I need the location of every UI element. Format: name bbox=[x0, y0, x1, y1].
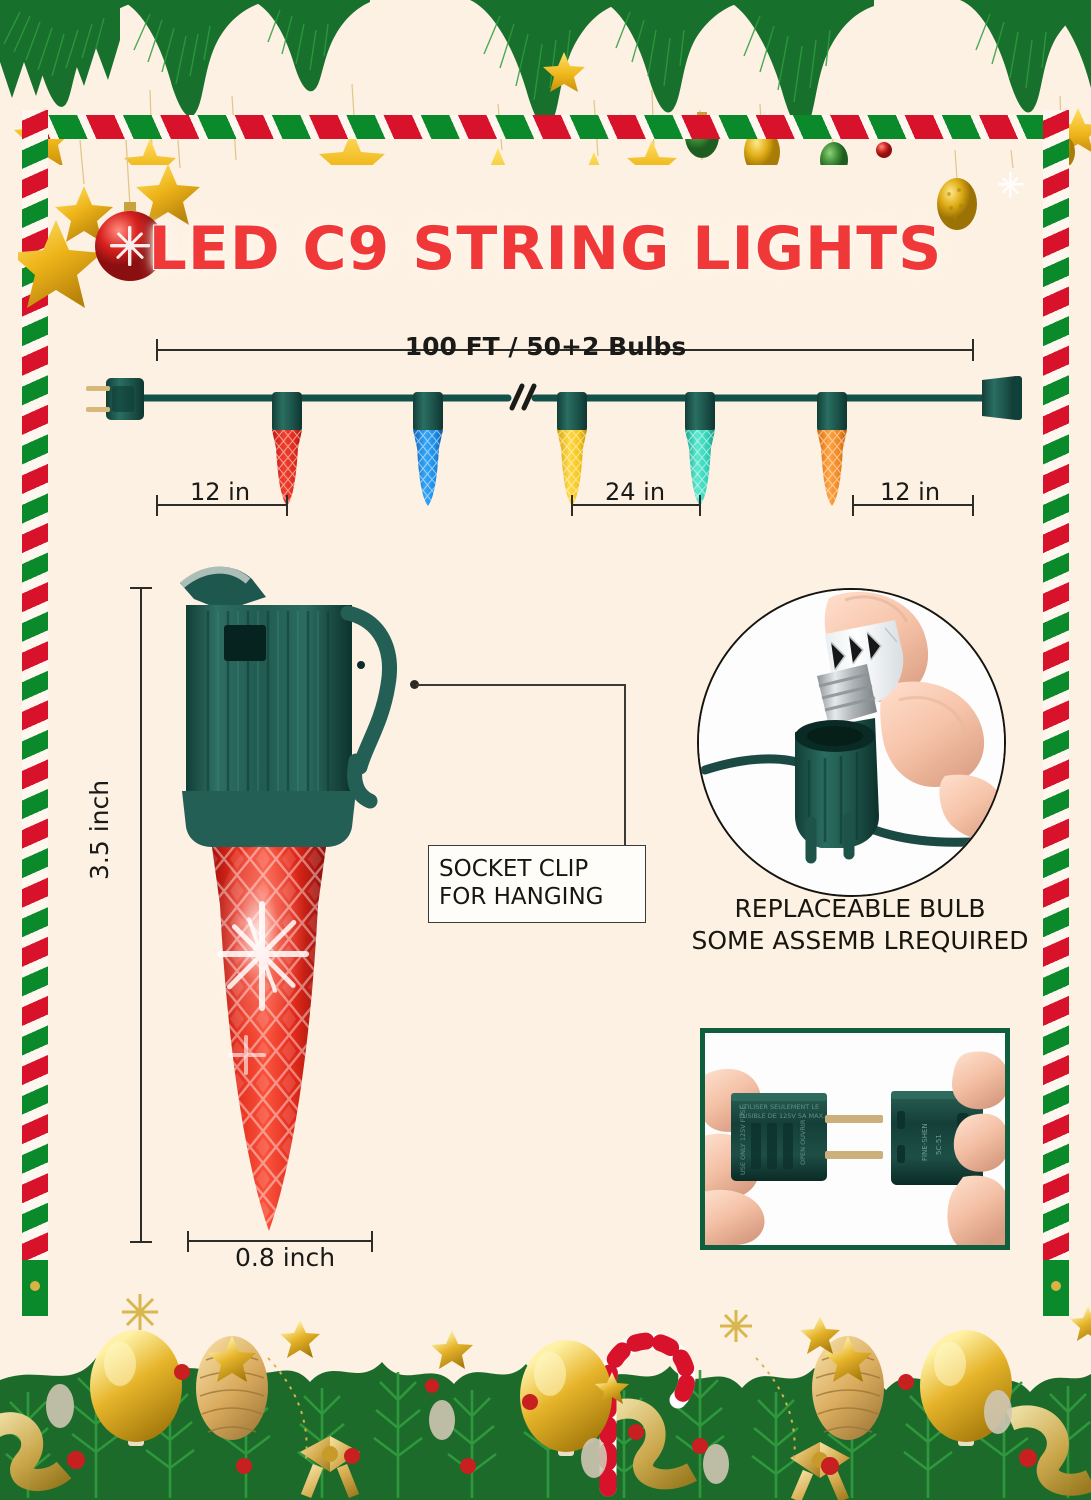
svg-text:UTILISER SEULEMENT LE: UTILISER SEULEMENT LE bbox=[739, 1103, 819, 1111]
socket-clip-hook bbox=[348, 613, 389, 767]
svg-text:FINE-SHEN: FINE-SHEN bbox=[921, 1123, 929, 1161]
gold-pinecone bbox=[812, 1336, 884, 1440]
string-length-label: 100 FT / 50+2 Bulbs bbox=[0, 332, 1091, 361]
male-plug-icon bbox=[86, 378, 144, 420]
bulb-width-label: 0.8 inch bbox=[235, 1243, 335, 1272]
replaceable-bulb-photo bbox=[697, 588, 1006, 897]
dimension-label-12in-left: 12 in bbox=[190, 478, 250, 506]
caption-line-2: SOME ASSEMB LREQUIRED bbox=[660, 925, 1060, 957]
svg-text:OPEN OUVRIR: OPEN OUVRIR bbox=[799, 1119, 807, 1165]
infographic-page: LED C9 STRING LIGHTS 100 FT / 50+2 Bulbs bbox=[0, 0, 1091, 1500]
bulb-yellow bbox=[557, 392, 587, 506]
callout-line-2: FOR HANGING bbox=[439, 883, 635, 911]
wire-break-marker bbox=[512, 386, 534, 408]
gold-pinecone bbox=[196, 1336, 268, 1440]
bulb-red bbox=[272, 392, 302, 506]
dimension-label-24in: 24 in bbox=[605, 478, 665, 506]
bulb-height-label: 3.5 inch bbox=[85, 780, 114, 880]
bulb-teal bbox=[685, 392, 715, 506]
caption-line-1: REPLACEABLE BULB bbox=[660, 893, 1060, 925]
svg-text:5C-51: 5C-51 bbox=[935, 1134, 943, 1155]
bulb-orange bbox=[817, 392, 847, 506]
svg-text:FUSIBLE DE 125V 5A MAX.: FUSIBLE DE 125V 5A MAX. bbox=[739, 1112, 825, 1120]
fuse-plug-photo: UTILISER SEULEMENT LE FUSIBLE DE 125V 5A… bbox=[700, 1028, 1010, 1250]
callout-leader-vertical bbox=[624, 684, 626, 847]
bulb-blue bbox=[413, 392, 443, 506]
socket-clip-callout-box: SOCKET CLIP FOR HANGING bbox=[428, 845, 646, 923]
dimension-label-12in-right: 12 in bbox=[880, 478, 940, 506]
callout-leader-horizontal bbox=[416, 684, 626, 686]
replaceable-bulb-caption: REPLACEABLE BULB SOME ASSEMB LREQUIRED bbox=[660, 893, 1060, 957]
callout-line-1: SOCKET CLIP bbox=[439, 855, 635, 883]
c9-bulb-detail-illustration bbox=[120, 555, 460, 1275]
bottom-garland-decoration bbox=[0, 1260, 1091, 1500]
height-dimension-line bbox=[126, 580, 156, 1250]
svg-text:USE ONLY 125V FUSE: USE ONLY 125V FUSE bbox=[739, 1106, 747, 1175]
candy-stripe-top-border bbox=[22, 115, 1069, 139]
page-title: LED C9 STRING LIGHTS bbox=[0, 214, 1091, 284]
female-socket-end-icon bbox=[982, 376, 1022, 420]
